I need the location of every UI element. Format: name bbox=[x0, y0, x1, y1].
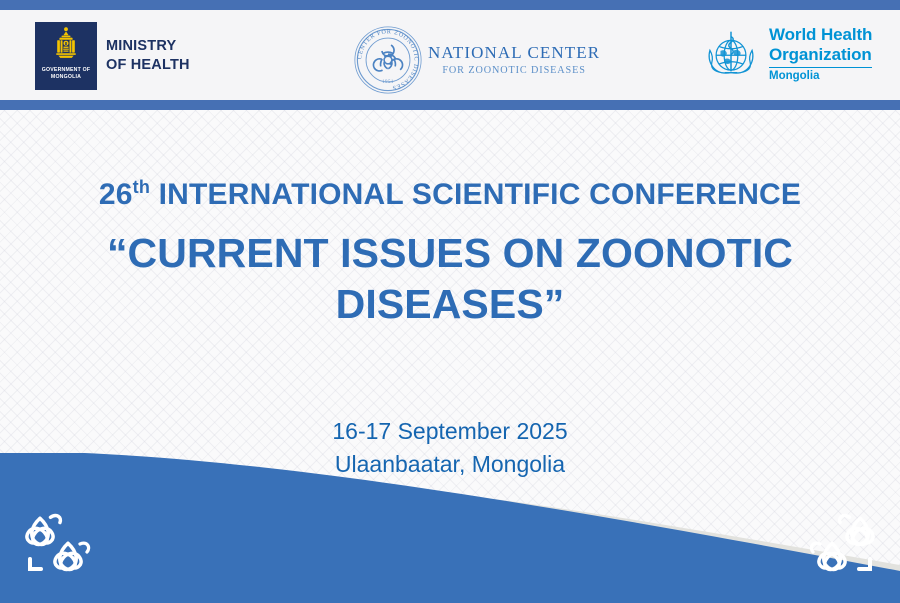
conference-ordinal-suffix: th bbox=[133, 177, 150, 197]
biohazard-trefoil-icon bbox=[371, 42, 402, 73]
who-divider bbox=[769, 67, 872, 69]
who-name: World Health Organization bbox=[769, 25, 872, 63]
conference-title-slide: GOVERNMENT OFMONGOLIA MINISTRY OF HEALTH… bbox=[0, 0, 900, 603]
soyombo-emblem-icon bbox=[51, 25, 81, 65]
mongolia-state-crest: GOVERNMENT OFMONGOLIA bbox=[35, 22, 97, 90]
ministry-of-health-label: MINISTRY OF HEALTH bbox=[106, 37, 190, 74]
svg-text:1951: 1951 bbox=[382, 79, 394, 85]
national-center-title: NATIONAL CENTER bbox=[428, 44, 600, 63]
who-label: World Health Organization Mongolia bbox=[769, 25, 872, 82]
top-accent-bar bbox=[0, 0, 900, 10]
wave-blue-fill bbox=[0, 453, 900, 603]
crest-caption-line2: MONGOLIA bbox=[51, 74, 81, 80]
knot-ornament-right bbox=[790, 511, 886, 581]
ministry-of-health-logo: GOVERNMENT OFMONGOLIA MINISTRY OF HEALTH bbox=[35, 22, 190, 90]
national-center-logo: NATIONAL CENTER FOR ZOONOTIC DISEASES bbox=[352, 24, 600, 96]
conference-number: 26 bbox=[99, 178, 133, 211]
who-country: Mongolia bbox=[769, 71, 872, 83]
knot-ornament-left bbox=[14, 511, 110, 581]
national-center-subtitle: FOR ZOONOTIC DISEASES bbox=[442, 65, 585, 76]
who-logo: World Health Organization Mongolia bbox=[700, 23, 872, 85]
logo-row: GOVERNMENT OFMONGOLIA MINISTRY OF HEALTH… bbox=[0, 10, 900, 100]
conference-heading: 26th INTERNATIONAL SCIENTIFIC CONFERENCE bbox=[0, 178, 900, 212]
crest-caption-line1: GOVERNMENT OF bbox=[42, 67, 90, 73]
page-title: “CURRENT ISSUES ON ZOONOTIC DISEASES” bbox=[60, 228, 840, 331]
crest-caption: GOVERNMENT OFMONGOLIA bbox=[42, 67, 90, 81]
zoonotic-seal-icon: NATIONAL CENTER FOR ZOONOTIC DISEASES bbox=[352, 24, 424, 96]
national-center-label: NATIONAL CENTER FOR ZOONOTIC DISEASES bbox=[428, 44, 600, 76]
who-emblem-icon bbox=[700, 23, 762, 85]
header-divider-bar bbox=[0, 100, 900, 110]
conference-heading-rest: INTERNATIONAL SCIENTIFIC CONFERENCE bbox=[150, 178, 801, 211]
bottom-wave-decoration bbox=[0, 453, 900, 603]
